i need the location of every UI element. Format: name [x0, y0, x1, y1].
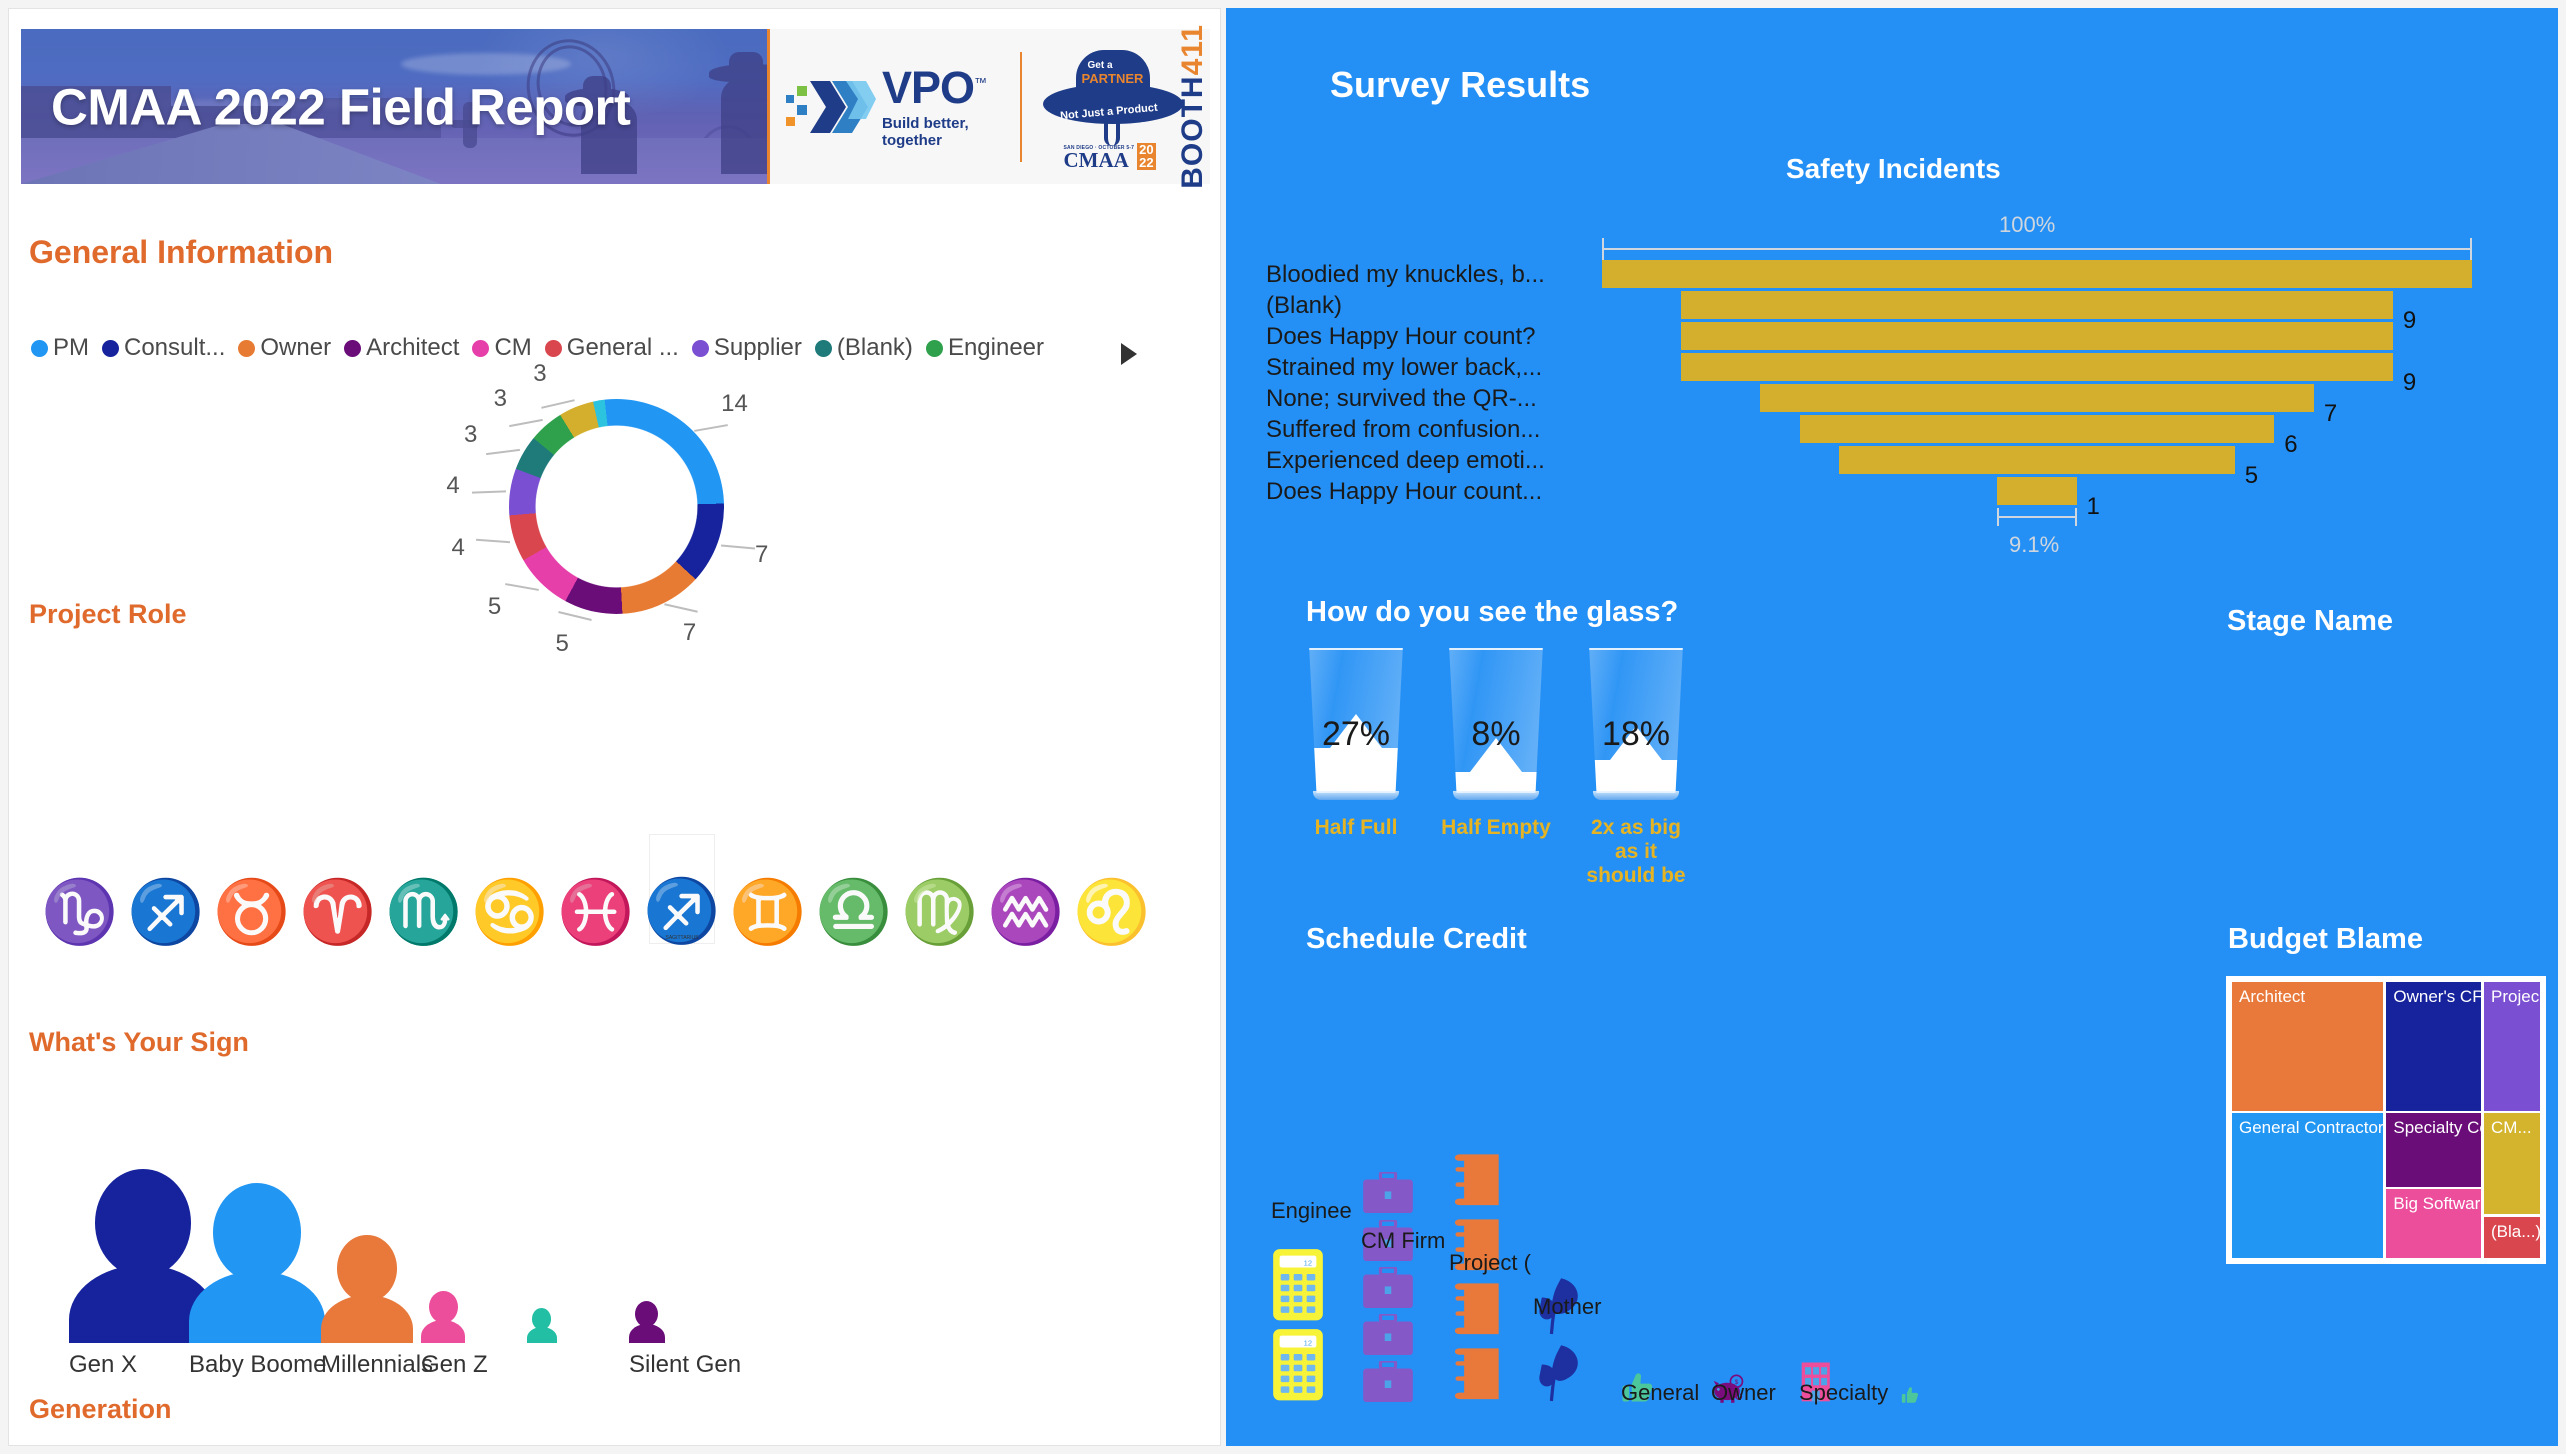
legend-item-architect[interactable]: Architect: [344, 334, 459, 362]
pictogram-category-label: Project (: [1449, 1250, 1531, 1276]
treemap-tile[interactable]: Projec...: [2483, 981, 2541, 1112]
person-head-icon: [337, 1235, 397, 1302]
vpo-chevron-icon: [784, 69, 876, 145]
legend-label: Supplier: [714, 334, 802, 362]
funnel-category-label: (Blank): [1266, 292, 1576, 320]
donut-data-label: 4: [451, 534, 464, 562]
funnel-bar[interactable]: [1602, 260, 2472, 288]
funnel-bottom-rule: [1997, 516, 2076, 518]
pictogram-column[interactable]: [1449, 1150, 1503, 1408]
funnel-category-label: Bloodied my knuckles, b...: [1266, 261, 1576, 289]
glass-category-label: Half Full: [1301, 816, 1411, 840]
legend-item-general-[interactable]: General ...: [545, 334, 679, 362]
banner-title: CMAA 2022 Field Report: [51, 77, 630, 136]
generation-person-icon: [189, 1183, 325, 1343]
donut-data-label: 3: [464, 421, 477, 449]
chart-title-schedule-credit: Schedule Credit: [1306, 923, 1527, 956]
cowboy-hat-emblem: Get a PARTNER Not Just a Product SAN DIE…: [1038, 42, 1170, 172]
pictogram-column[interactable]: [1901, 1386, 1919, 1408]
svg-text:12: 12: [1304, 1339, 1312, 1348]
briefcase-icon: [1361, 1361, 1415, 1408]
libra-icon: ♎♎: [821, 834, 887, 944]
aquarius-icon: ♒♒: [993, 834, 1059, 944]
funnel-row[interactable]: Bloodied my knuckles, b...: [1266, 260, 2526, 291]
funnel-top-rule: [1602, 248, 2472, 250]
person-body-icon: [189, 1271, 325, 1343]
project-role-donut-chart[interactable]: 14775544333: [429, 387, 819, 667]
legend-swatch: [102, 340, 119, 357]
treemap-tile[interactable]: Owner's CFO: [2385, 981, 2482, 1112]
legend-item--blank-[interactable]: (Blank): [815, 334, 913, 362]
calculator-icon: 12: [1271, 1247, 1325, 1328]
funnel-value-label: 1: [2087, 493, 2100, 521]
funnel-top-percent: 100%: [1999, 212, 2055, 238]
person-body-icon: [629, 1324, 665, 1343]
cmaa-wordmark: CMAA: [1064, 151, 1135, 170]
cmaa-year-bottom: 22: [1137, 156, 1155, 169]
person-head-icon: [635, 1301, 658, 1327]
glass-column[interactable]: 8%Half Empty: [1441, 648, 1551, 908]
funnel-bar[interactable]: [1800, 415, 2275, 443]
person-head-icon: [95, 1169, 191, 1277]
treemap-tile[interactable]: (Bla...): [2483, 1216, 2541, 1259]
funnel-tick: [2470, 238, 2472, 260]
vpo-wordmark: VPO™: [882, 65, 1004, 110]
vpo-logo: VPO™ Build better, together: [770, 65, 1004, 149]
treemap-tile[interactable]: General Contractor: [2231, 1112, 2384, 1259]
funnel-tick: [2075, 508, 2077, 526]
glass-percent-label: 18%: [1586, 715, 1686, 754]
scorpio-icon: ♏♏: [391, 834, 457, 944]
funnel-row[interactable]: (Blank)9: [1266, 291, 2526, 322]
legend-item-pm[interactable]: PM: [31, 334, 89, 362]
binder-icon: [1449, 1150, 1503, 1214]
funnel-category-label: Does Happy Hour count?: [1266, 323, 1576, 351]
section-title-stage-name: Stage Name: [2227, 605, 2393, 638]
chart-title-safety-incidents: Safety Incidents: [1786, 153, 2001, 185]
funnel-category-label: Does Happy Hour count...: [1266, 478, 1576, 506]
donut-leader-line: [664, 604, 698, 613]
donut-leader-line: [509, 419, 543, 427]
funnel-bar[interactable]: [1997, 477, 2076, 505]
glass-water-fill: [1584, 760, 1688, 791]
glass-column[interactable]: 27%Half Full: [1301, 648, 1411, 908]
banner-logos: VPO™ Build better, together Get a PARTNE…: [770, 29, 1210, 184]
vpo-tagline: Build better, together: [882, 115, 1004, 149]
legend-item-cm[interactable]: CM: [472, 334, 531, 362]
safety-incidents-funnel-chart[interactable]: 100% 9.1% Bloodied my knuckles, b...(Bla…: [1266, 208, 2526, 568]
funnel-row[interactable]: Experienced deep emoti...5: [1266, 446, 2526, 477]
donut-leader-line: [486, 449, 520, 455]
donut-leader-line: [505, 583, 539, 591]
binder-icon: [1449, 1279, 1503, 1343]
generation-label: Gen X: [69, 1351, 137, 1379]
project-role-legend[interactable]: PMConsult...OwnerArchitectCMGeneral ...S…: [31, 334, 1044, 362]
pictogram-column[interactable]: [1361, 1172, 1415, 1408]
section-title-project-role: Project Role: [29, 599, 187, 630]
thumbs-up-icon: [1901, 1386, 1919, 1408]
funnel-tick: [1602, 238, 1604, 260]
funnel-row[interactable]: Strained my lower back,...9: [1266, 353, 2526, 384]
glass-category-label: Half Empty: [1441, 816, 1551, 840]
person-body-icon: [421, 1320, 465, 1343]
funnel-bar[interactable]: [1681, 353, 2393, 381]
booth-number-label: BOOTH411: [1176, 24, 1210, 189]
donut-data-label: 5: [488, 593, 501, 621]
sagittarius-badge-outline: ♐: [650, 835, 714, 943]
banner-artwork: CMAA 2022 Field Report: [21, 29, 770, 184]
budget-blame-treemap[interactable]: ArchitectOwner's CFOProjec...General Con…: [2226, 976, 2546, 1264]
glass-percent-label: 27%: [1306, 715, 1406, 754]
donut-leader-line: [541, 399, 575, 409]
legend-item-owner[interactable]: Owner: [238, 334, 331, 362]
legend-label: PM: [53, 334, 89, 362]
funnel-bar[interactable]: [1681, 291, 2393, 319]
donut-data-label: 4: [446, 472, 459, 500]
section-title-general-information: General Information: [29, 234, 333, 271]
sagittarius-badge-icon: ♐♐SAGITTARIUS: [649, 834, 715, 944]
chart-title-glass: How do you see the glass?: [1306, 596, 1678, 629]
taurus-icon: ♉♉: [219, 834, 285, 944]
funnel-row[interactable]: Does Happy Hour count?: [1266, 322, 2526, 353]
cancer-icon: ♋♋: [477, 834, 543, 944]
funnel-bar[interactable]: [1760, 384, 2314, 412]
legend-label: Consult...: [124, 334, 225, 362]
hat-partner-text: PARTNER: [1082, 71, 1144, 86]
legend-swatch: [692, 340, 709, 357]
zodiac-sign-row: ♑♑♐♐♉♉♈♈♏♏♋♋♓♓♐♐SAGITTARIUS♊♊♎♎♍♍♒♒♌♌: [47, 824, 1177, 944]
pictogram-category-label: Mother: [1533, 1294, 1601, 1320]
pictogram-category-label: Owner: [1711, 1380, 1776, 1406]
donut-data-label: 7: [683, 619, 696, 647]
person-body-icon: [527, 1327, 557, 1343]
legend-swatch: [815, 340, 832, 357]
funnel-tick: [1997, 508, 1999, 526]
cmaa-year: 20 22: [1137, 143, 1155, 170]
generation-label: Silent Gen: [629, 1351, 741, 1379]
capricorn-fill: ♑: [47, 834, 113, 944]
person-body-icon: [321, 1295, 413, 1343]
funnel-row[interactable]: Does Happy Hour count...1: [1266, 477, 2526, 508]
divider: [1020, 52, 1022, 162]
cmaa-year-top: 20: [1137, 143, 1155, 156]
trademark-icon: ™: [974, 75, 986, 90]
donut-data-label: 7: [755, 541, 768, 569]
treemap-tile[interactable]: Architect: [2231, 981, 2384, 1112]
funnel-bottom-percent: 9.1%: [2009, 532, 2059, 558]
donut-data-label: 3: [494, 385, 507, 413]
legend-label: General ...: [567, 334, 679, 362]
hat-get-text: Get a: [1088, 60, 1113, 71]
right-survey-panel: Survey Results Safety Incidents How do y…: [1226, 8, 2558, 1446]
hat-strap-icon: [1104, 120, 1120, 146]
legend-swatch: [238, 340, 255, 357]
glass-water-fill: [1304, 748, 1408, 791]
report-banner: CMAA 2022 Field Report: [21, 29, 1210, 184]
leo-icon: ♌♌: [1079, 834, 1145, 944]
funnel-category-label: Strained my lower back,...: [1266, 354, 1576, 382]
libra-outline: ♎: [821, 834, 887, 944]
zodiac-caption: SAGITTARIUS: [650, 935, 714, 941]
schedule-credit-pictogram-chart: 1212EngineeCM FirmProject (MotherGeneral…: [1261, 1068, 2021, 1408]
donut-leader-line: [694, 424, 728, 432]
capricorn-icon: ♑♑: [47, 834, 113, 944]
glass-icon: 8%: [1444, 648, 1548, 793]
legend-item-consult-[interactable]: Consult...: [102, 334, 225, 362]
generation-label: Millennials: [321, 1351, 433, 1379]
legend-label: Owner: [260, 334, 331, 362]
section-title-survey-results: Survey Results: [1330, 64, 1590, 106]
section-title-generation: Generation: [29, 1394, 172, 1425]
binder-icon: [1449, 1344, 1503, 1408]
generation-pictogram-chart: Gen XBaby BoomeMillennialsGen ZSilent Ge…: [49, 1169, 1189, 1379]
pisces-icon: ♓♓: [563, 834, 629, 944]
legend-item-engineer[interactable]: Engineer: [926, 334, 1044, 362]
briefcase-icon: [1361, 1267, 1415, 1314]
funnel-category-label: Suffered from confusion...: [1266, 416, 1576, 444]
legend-swatch: [926, 340, 943, 357]
glass-column[interactable]: 18%2x as big as it should be: [1581, 648, 1691, 908]
generation-label: Gen Z: [421, 1351, 488, 1379]
donut-leader-line: [721, 544, 755, 549]
leo-outline: ♌: [1079, 834, 1145, 944]
legend-label: Engineer: [948, 334, 1044, 362]
funnel-category-label: None; survived the QR-...: [1266, 385, 1576, 413]
person-head-icon: [429, 1291, 458, 1323]
sagittarius-icon: ♐♐: [133, 834, 199, 944]
section-title-whats-your-sign: What's Your Sign: [29, 1027, 249, 1058]
funnel-row[interactable]: Suffered from confusion...6: [1266, 415, 2526, 446]
donut-data-label: 14: [721, 390, 748, 418]
legend-swatch: [31, 340, 48, 357]
donut-data-label: 3: [533, 360, 546, 388]
legend-swatch: [545, 340, 562, 357]
virgo-icon: ♍♍: [907, 834, 973, 944]
calculator-icon: 12: [1271, 1327, 1325, 1408]
glass-category-label: 2x as big as it should be: [1581, 816, 1691, 888]
dashboard-page: CMAA 2022 Field Report: [0, 0, 2566, 1454]
donut-data-label: 5: [556, 630, 569, 658]
funnel-bar[interactable]: [1681, 322, 2393, 350]
legend-swatch: [344, 340, 361, 357]
donut-leader-line: [558, 611, 592, 621]
glass-icon: 27%: [1304, 648, 1408, 793]
person-head-icon: [213, 1183, 301, 1282]
legend-item-supplier[interactable]: Supplier: [692, 334, 802, 362]
donut-leader-line: [472, 491, 506, 494]
generation-person-icon: [421, 1291, 465, 1343]
donut-hole: [509, 399, 724, 614]
svg-text:12: 12: [1304, 1258, 1312, 1267]
glass-perception-chart: 27%Half Full8%Half Empty18%2x as big as …: [1301, 648, 1721, 908]
treemap-tiles: ArchitectOwner's CFOProjec...General Con…: [2231, 981, 2541, 1259]
aries-icon: ♈♈: [305, 834, 371, 944]
left-report-panel: CMAA 2022 Field Report: [8, 8, 1221, 1446]
treemap-tile[interactable]: CM...: [2483, 1112, 2541, 1215]
chevron-right-icon[interactable]: [1121, 343, 1137, 365]
pictogram-category-label: Enginee: [1271, 1198, 1352, 1224]
legend-swatch: [472, 340, 489, 357]
pictogram-column[interactable]: 1212: [1271, 1247, 1325, 1408]
funnel-category-label: Experienced deep emoti...: [1266, 447, 1576, 475]
leaf-icon: [1533, 1341, 1587, 1408]
briefcase-icon: [1361, 1314, 1415, 1361]
briefcase-icon: [1361, 1172, 1415, 1219]
treemap-tile[interactable]: Specialty Contra...: [2385, 1112, 2482, 1187]
generation-label: Baby Boome: [189, 1351, 326, 1379]
chart-title-budget-blame: Budget Blame: [2228, 923, 2423, 956]
glass-icon: 18%: [1584, 648, 1688, 793]
legend-label: CM: [494, 334, 531, 362]
gemini-icon: ♊♊: [735, 834, 801, 944]
glass-percent-label: 8%: [1446, 715, 1546, 754]
generation-person-icon: [527, 1308, 557, 1343]
pictogram-category-label: CM Firm: [1361, 1228, 1445, 1254]
aquarius-outline: ♒: [993, 834, 1059, 944]
pictogram-category-label: Specialty: [1799, 1380, 1888, 1406]
legend-label: (Blank): [837, 334, 913, 362]
funnel-bar[interactable]: [1839, 446, 2234, 474]
treemap-tile[interactable]: Big Software: [2385, 1188, 2482, 1259]
generation-person-icon: [321, 1235, 413, 1343]
funnel-row[interactable]: None; survived the QR-...7: [1266, 384, 2526, 415]
legend-label: Architect: [366, 334, 459, 362]
pictogram-category-label: General: [1621, 1380, 1699, 1406]
donut-leader-line: [476, 539, 510, 543]
generation-person-icon: [629, 1301, 665, 1343]
cmaa-logo: SAN DIEGO · OCTOBER 5-7 CMAA 20 22: [1064, 143, 1156, 170]
glass-water-fill: [1444, 772, 1548, 791]
